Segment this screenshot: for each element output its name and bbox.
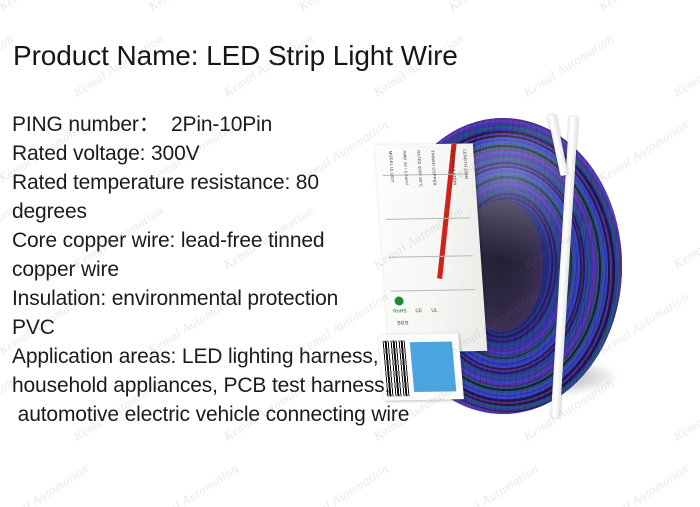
- watermark-text: Kemal Automation: [671, 375, 700, 445]
- watermark-text: Kemal Automation: [296, 461, 392, 507]
- spec-line: copper wire: [12, 255, 442, 284]
- spec-line: automotive electric vehicle connecting w…: [12, 400, 442, 429]
- watermark-text: Kemal Automation: [0, 0, 92, 15]
- watermark-text: Kemal Automation: [521, 31, 617, 101]
- page-title: Product Name: LED Strip Light Wire: [13, 40, 458, 72]
- spec-line: Rated voltage: 300V: [12, 139, 442, 168]
- product-image-canvas: MODEL UL1007 AWG 20 / 0.5mm² RATED 300V …: [0, 0, 700, 507]
- label-spec-column: LENGTH 100M: [461, 149, 475, 269]
- watermark-text: Kemal Automation: [671, 31, 700, 101]
- spec-line: PVC: [12, 313, 442, 342]
- watermark-text: Kemal Automation: [146, 461, 242, 507]
- spec-line: PING number： 2Pin-10Pin: [12, 110, 442, 139]
- spec-line: degrees: [12, 197, 442, 226]
- watermark-text: Kemal Automation: [671, 203, 700, 273]
- watermark-text: Kemal Automation: [596, 461, 692, 507]
- spec-line: Insulation: environmental protection: [12, 284, 442, 313]
- spec-list: PING number： 2Pin-10Pin Rated voltage: 3…: [12, 110, 442, 429]
- spec-line: Application areas: LED lighting harness,: [12, 342, 442, 371]
- watermark-text: Kemal Automation: [446, 0, 542, 15]
- watermark-text: Kemal Automation: [296, 0, 392, 15]
- watermark-text: Kemal Automation: [146, 0, 242, 15]
- watermark-text: Kemal Automation: [446, 461, 542, 507]
- watermark-text: Kemal Automation: [596, 0, 692, 15]
- spec-line: Core copper wire: lead-free tinned: [12, 226, 442, 255]
- watermark-text: Kemal Automation: [0, 461, 92, 507]
- spec-line: Rated temperature resistance: 80: [12, 168, 442, 197]
- spec-line: household appliances, PCB test harness,: [12, 371, 442, 400]
- label-spec-column: PVC INSULATION: [449, 150, 463, 270]
